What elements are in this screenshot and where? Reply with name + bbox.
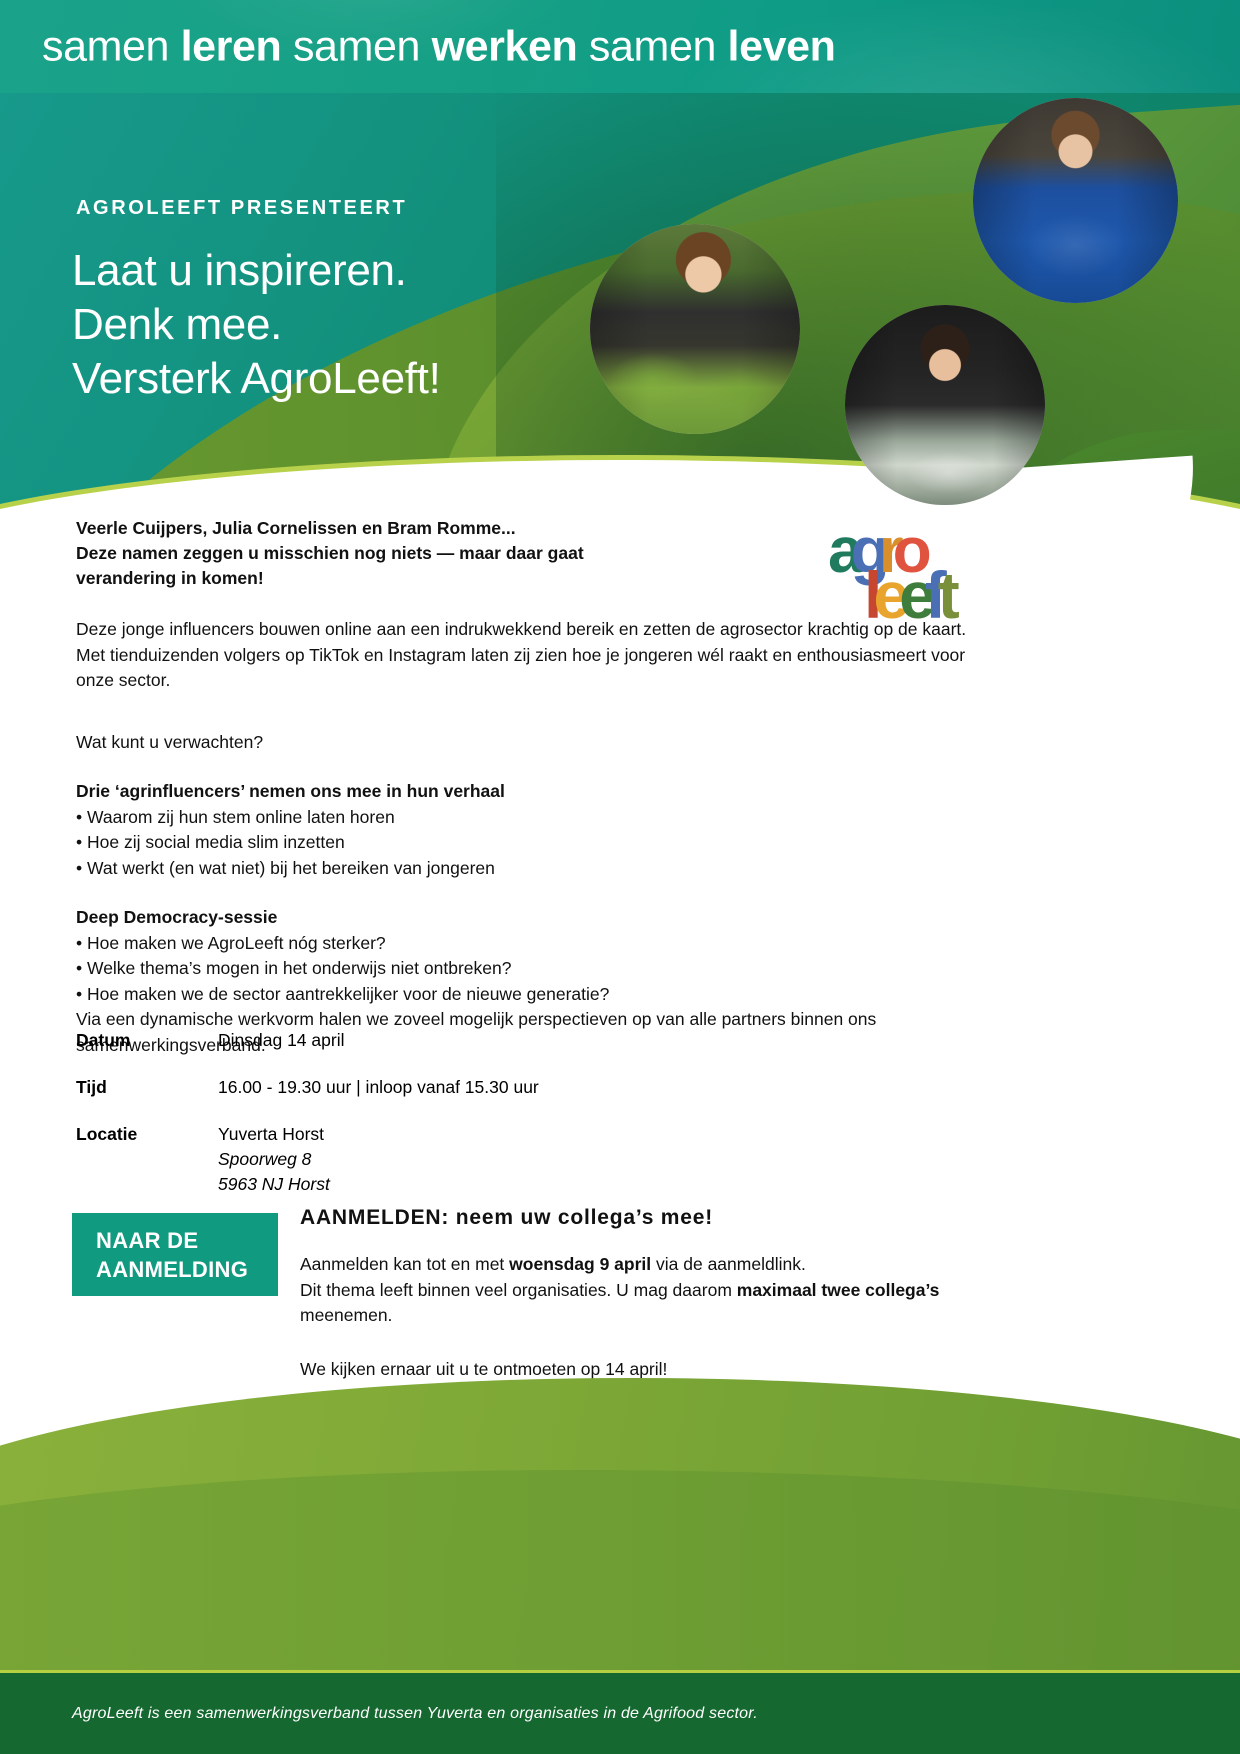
naar-de-aanmelding-button[interactable]: NAAR DE AANMELDING	[72, 1213, 278, 1296]
banner-tagline: samen leren samen werken samen leven	[42, 22, 836, 71]
section-title-deep-democracy: Deep Democracy-sessie	[76, 905, 976, 931]
detail-row-tijd: Tijd 16.00 - 19.30 uur | inloop vanaf 15…	[76, 1075, 836, 1100]
list-item: • Waarom zij hun stem online laten horen	[76, 805, 976, 831]
registration-paragraph: Aanmelden kan tot en met woensdag 9 apri…	[300, 1252, 1000, 1329]
headline-line-3: Versterk AgroLeeft!	[72, 352, 441, 406]
headline-line-2: Denk mee.	[72, 298, 441, 352]
headline: Laat u inspireren. Denk mee. Versterk Ag…	[72, 244, 441, 406]
detail-value-locatie: Yuverta Horst Spoorweg 8 5963 NJ Horst	[218, 1122, 330, 1197]
reg-p2-pre: Dit thema leeft binnen veel organisaties…	[300, 1280, 737, 1300]
lead-line-3: verandering in komen!	[76, 566, 976, 591]
list-item: • Wat werkt (en wat niet) bij het bereik…	[76, 856, 976, 882]
registration-heading: AANMELDEN: neem uw collega’s mee!	[300, 1206, 1000, 1230]
lead-line-2: Deze namen zeggen u misschien nog niets …	[76, 541, 976, 566]
tagline-word-5: samen	[589, 22, 728, 70]
cta-button-line-2: AANMELDING	[96, 1255, 278, 1284]
intro-paragraph: Deze jonge influencers bouwen online aan…	[76, 617, 976, 694]
photo-young-woman-machine	[845, 305, 1045, 505]
list-item: • Hoe maken we AgroLeeft nóg sterker?	[76, 931, 976, 957]
body-content: Veerle Cuijpers, Julia Cornelissen en Br…	[76, 516, 976, 1058]
detail-row-datum: Datum Dinsdag 14 april	[76, 1028, 836, 1053]
footer-strip: AgroLeeft is een samenwerkingsverband tu…	[0, 1670, 1240, 1754]
location-venue: Yuverta Horst	[218, 1122, 330, 1147]
tagline-word-4: werken	[432, 22, 589, 70]
cta-button-line-1: NAAR DE	[96, 1226, 278, 1255]
list-item: • Hoe maken we de sector aantrekkelijker…	[76, 982, 976, 1008]
detail-value-datum: Dinsdag 14 april	[218, 1028, 344, 1053]
event-details: Datum Dinsdag 14 april Tijd 16.00 - 19.3…	[76, 1028, 836, 1219]
reg-p1-bold: woensdag 9 april	[509, 1254, 651, 1274]
reg-p1-post: via de aanmeldlink.	[651, 1254, 806, 1274]
detail-label-locatie: Locatie	[76, 1122, 218, 1197]
registration-block: AANMELDEN: neem uw collega’s mee! Aanmel…	[300, 1206, 1000, 1382]
detail-label-tijd: Tijd	[76, 1075, 218, 1100]
detail-row-locatie: Locatie Yuverta Horst Spoorweg 8 5963 NJ…	[76, 1122, 836, 1197]
kicker-text: AGROLEEFT PRESENTEERT	[76, 197, 407, 220]
location-street: Spoorweg 8	[218, 1147, 330, 1172]
headline-line-1: Laat u inspireren.	[72, 244, 441, 298]
bullet-list-deep-democracy: • Hoe maken we AgroLeeft nóg sterker? • …	[76, 931, 976, 1008]
photo-image-1	[973, 98, 1178, 303]
section-title-agrinfluencers: Drie ‘agrinfluencers’ nemen ons mee in h…	[76, 779, 976, 805]
photo-image-3	[845, 305, 1045, 505]
section-agrinfluencers: Drie ‘agrinfluencers’ nemen ons mee in h…	[76, 779, 976, 881]
list-item: • Welke thema’s mogen in het onderwijs n…	[76, 956, 976, 982]
photo-young-farmer-blue-overall	[973, 98, 1178, 303]
top-banner: samen leren samen werken samen leven	[0, 0, 1240, 93]
bullet-list-agrinfluencers: • Waarom zij hun stem online laten horen…	[76, 805, 976, 882]
lead-paragraph: Veerle Cuijpers, Julia Cornelissen en Br…	[76, 516, 976, 591]
detail-value-tijd: 16.00 - 19.30 uur | inloop vanaf 15.30 u…	[218, 1075, 539, 1100]
tagline-word-3: samen	[293, 22, 432, 70]
reg-p2-bold: maximaal twee collega’s	[737, 1280, 940, 1300]
tagline-word-2: leren	[181, 22, 293, 70]
list-item: • Hoe zij social media slim inzetten	[76, 830, 976, 856]
detail-label-datum: Datum	[76, 1028, 218, 1053]
poster-root: samen leren samen werken samen leven AGR…	[0, 0, 1240, 1754]
reg-p2-post: meenemen.	[300, 1305, 392, 1325]
expectation-question: Wat kunt u verwachten?	[76, 730, 976, 756]
location-city: 5963 NJ Horst	[218, 1172, 330, 1197]
photo-image-2	[590, 224, 800, 434]
photo-young-woman-vegetable-field	[590, 224, 800, 434]
lead-line-1: Veerle Cuijpers, Julia Cornelissen en Br…	[76, 516, 976, 541]
tagline-word-1: samen	[42, 22, 181, 70]
reg-p1-pre: Aanmelden kan tot en met	[300, 1254, 509, 1274]
cta-button-wrapper[interactable]: NAAR DE AANMELDING	[72, 1213, 278, 1296]
tagline-word-6: leven	[728, 22, 836, 70]
footer-text: AgroLeeft is een samenwerkingsverband tu…	[72, 1705, 758, 1723]
